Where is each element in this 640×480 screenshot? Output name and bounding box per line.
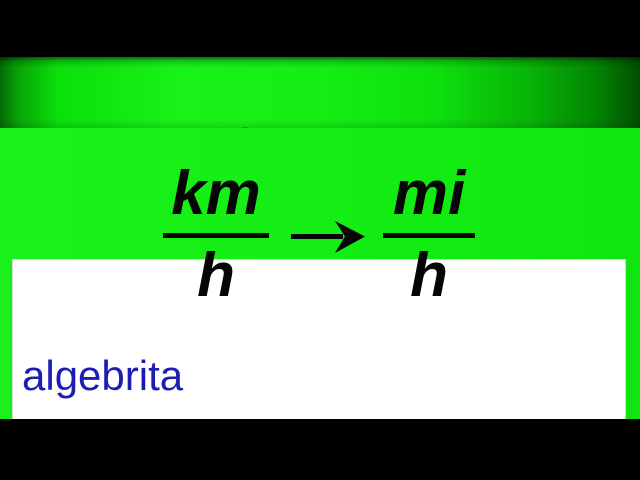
target-unit-numerator: mi: [387, 164, 471, 227]
letterbox-top: [0, 0, 640, 57]
title-banner: Conversión de unidades: [0, 57, 640, 130]
target-fraction-bar: [383, 233, 475, 238]
source-unit-numerator: km: [165, 164, 267, 227]
target-unit-denominator: h: [404, 246, 454, 307]
arrow-right-icon: [283, 207, 375, 267]
source-unit-fraction: km h: [163, 164, 269, 307]
video-frame: Conversión de unidades km h mi h algebri…: [0, 0, 640, 480]
brand-watermark: algebrita: [22, 352, 183, 400]
target-unit-fraction: mi h: [383, 164, 475, 307]
source-unit-denominator: h: [191, 246, 241, 307]
letterbox-bottom: [0, 419, 640, 480]
unit-conversion-formula: km h mi h: [12, 150, 626, 320]
source-fraction-bar: [163, 233, 269, 238]
